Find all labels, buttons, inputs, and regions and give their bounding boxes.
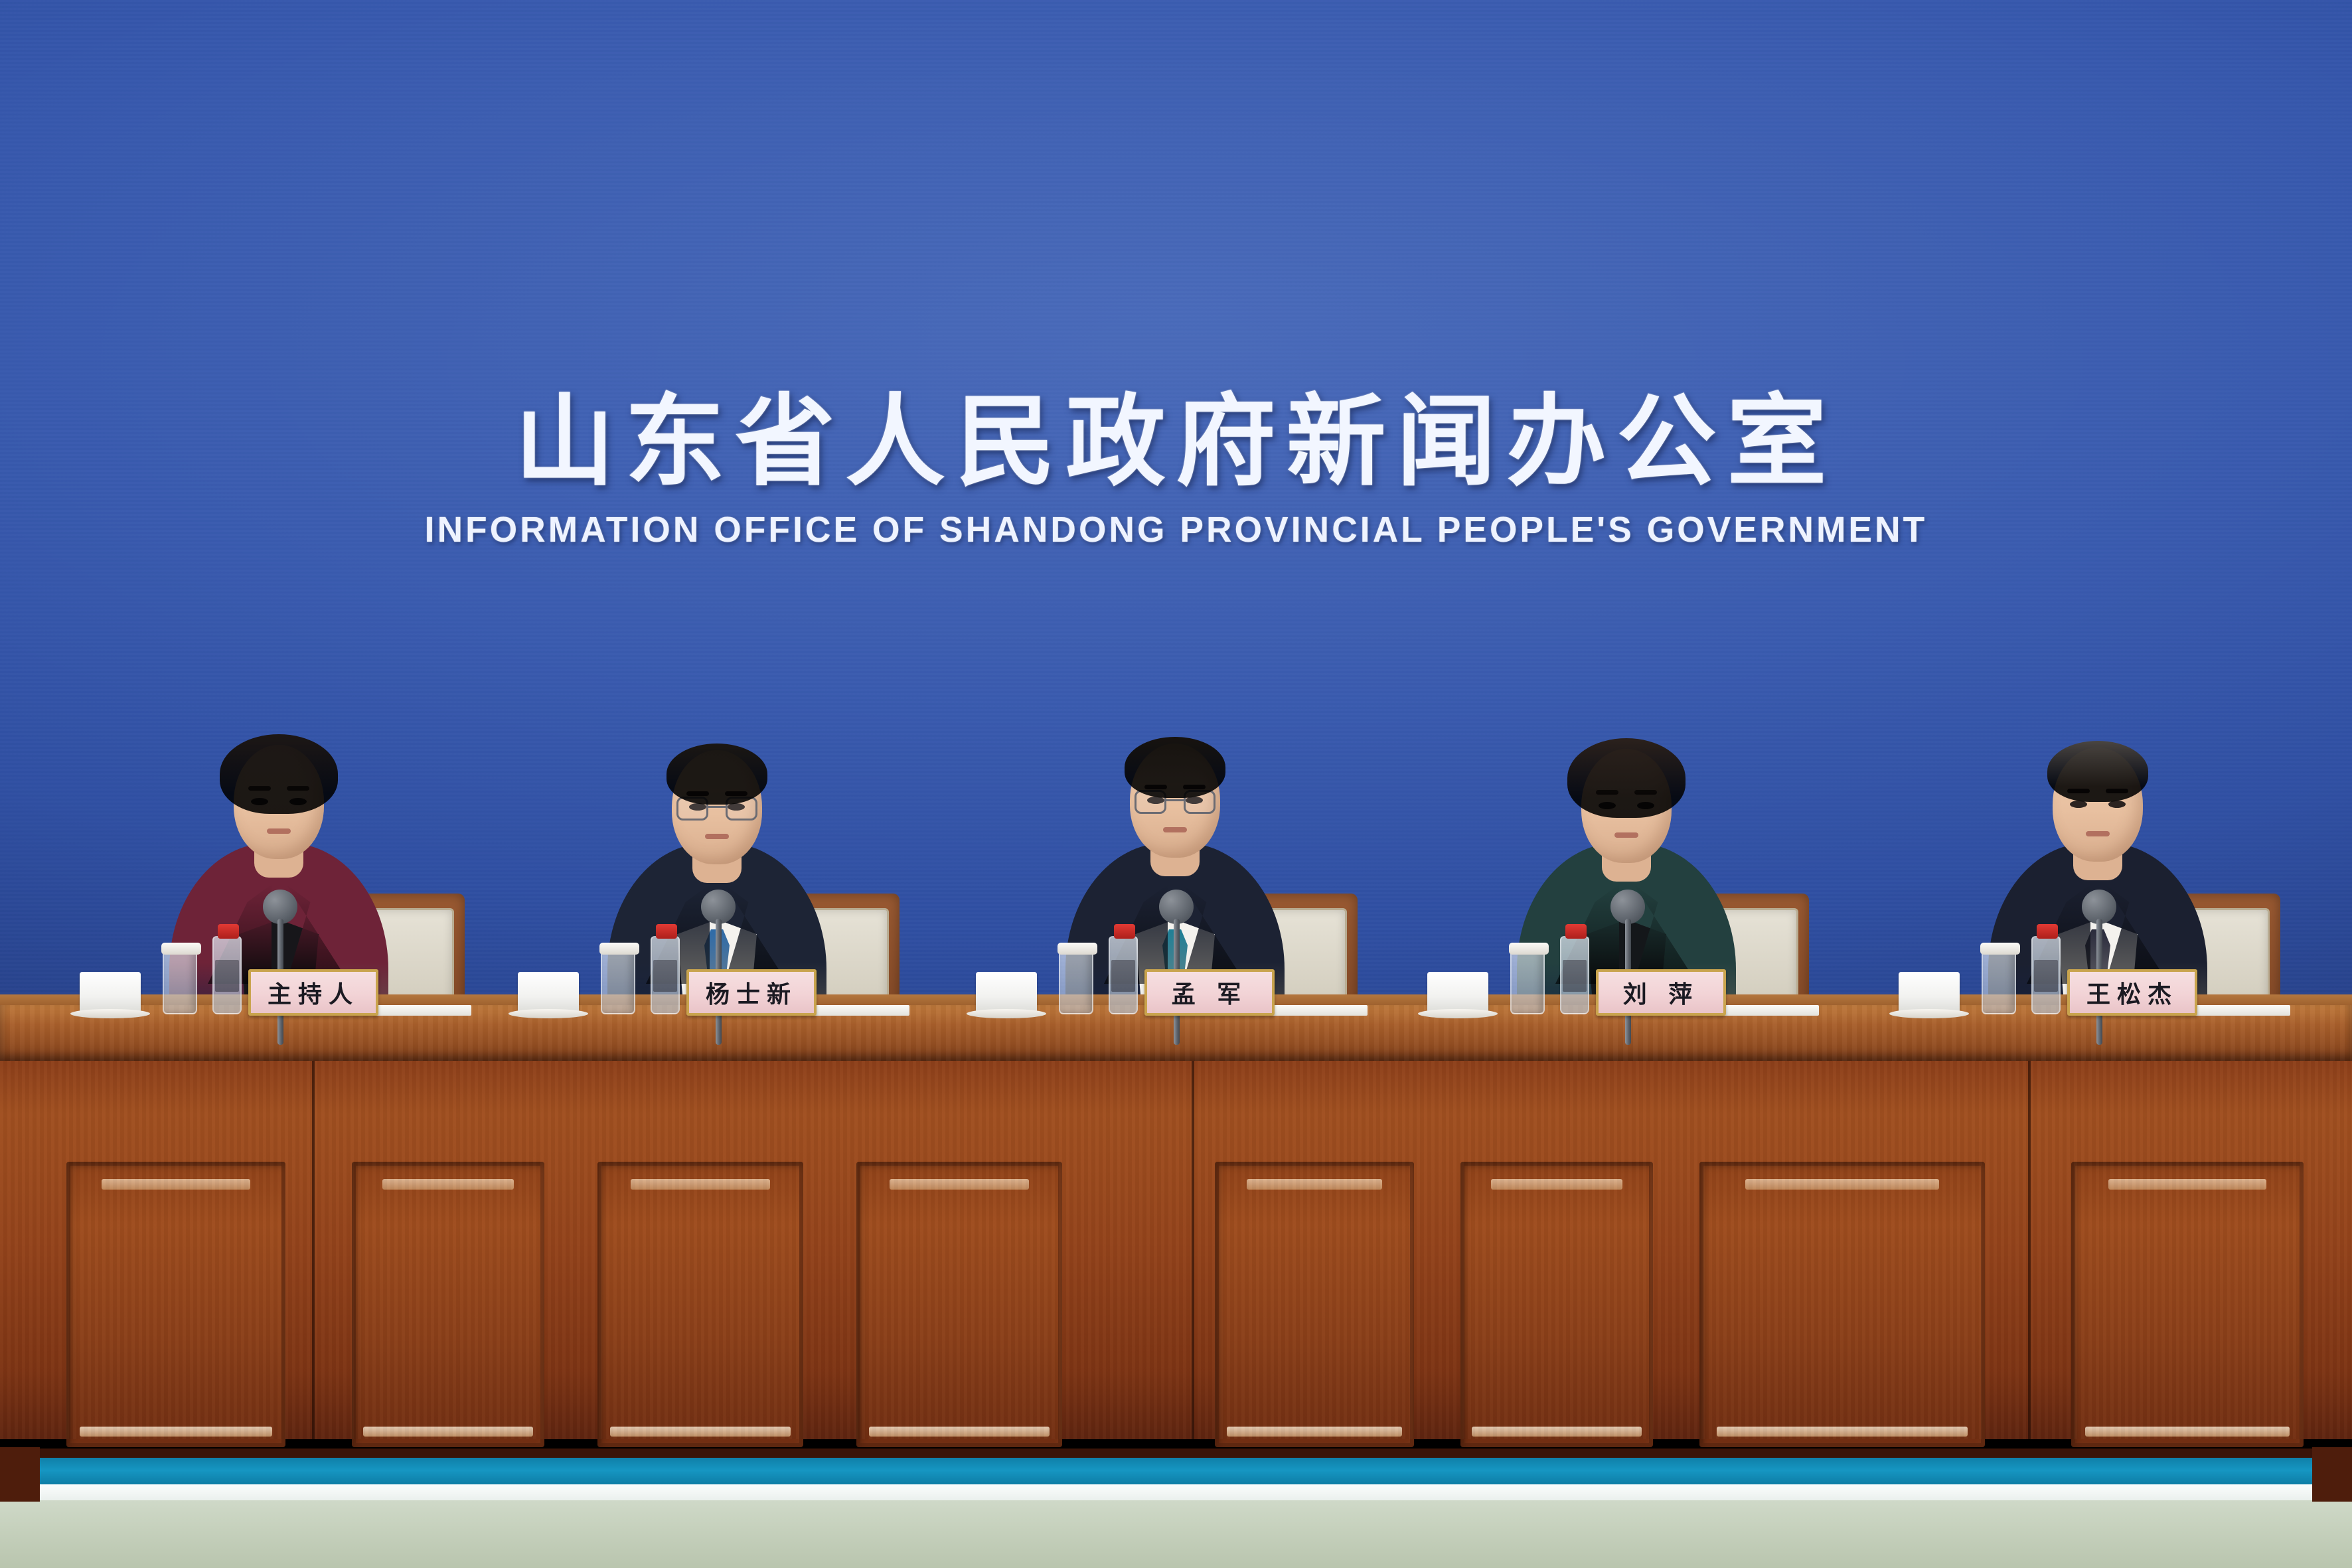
- folded-towel: [518, 972, 579, 1013]
- panel-bottom-highlight: [363, 1427, 532, 1437]
- panel-top-highlight: [2108, 1179, 2266, 1190]
- nameplate: 孟 军: [1144, 969, 1275, 1016]
- panel-bottom-highlight: [80, 1427, 272, 1437]
- table-seam: [1192, 1061, 1194, 1439]
- mouth: [2086, 831, 2110, 836]
- bottle-cap: [1114, 924, 1135, 939]
- water-bottle: [212, 936, 242, 1014]
- panel-bottom-highlight: [1472, 1427, 1641, 1437]
- bottle-label: [2034, 960, 2058, 992]
- folded-towel: [80, 972, 141, 1013]
- water-bottle: [1109, 936, 1138, 1014]
- panel-bottom-highlight: [1717, 1427, 1968, 1437]
- glass-lid: [599, 943, 639, 955]
- press-conference-photo: 山东省人民政府新闻办公室 INFORMATION OFFICE OF SHAND…: [0, 0, 2352, 1568]
- folded-towel: [1427, 972, 1488, 1013]
- mouth: [267, 828, 291, 834]
- table-panel: [2071, 1162, 2304, 1447]
- glass-lid: [161, 943, 201, 955]
- lidded-glass: [1059, 949, 1093, 1014]
- press-conference-table: [0, 994, 2352, 1452]
- bottle-cap: [1565, 924, 1587, 939]
- hair: [666, 744, 767, 805]
- nameplate-text: 主持人: [268, 975, 359, 1010]
- water-bottle: [651, 936, 680, 1014]
- folded-towel: [1899, 972, 1960, 1013]
- glass-lid: [1980, 943, 2020, 955]
- folded-towel: [976, 972, 1037, 1013]
- lidded-glass: [1510, 949, 1545, 1014]
- microphone: [260, 890, 300, 1042]
- nameplate-text: 孟 军: [1172, 975, 1248, 1010]
- table-panel: [856, 1162, 1062, 1447]
- bottle-label: [1563, 960, 1587, 992]
- mouth: [1614, 832, 1638, 838]
- bottle-label: [215, 960, 239, 992]
- water-bottle: [1560, 936, 1589, 1014]
- glasses-bridge: [1166, 799, 1184, 801]
- stage-floor: [0, 1449, 2352, 1568]
- glass-lid: [1509, 943, 1549, 955]
- microphone: [1156, 890, 1196, 1042]
- microphone: [2079, 890, 2119, 1042]
- panel-top-highlight: [382, 1179, 513, 1190]
- floor-surface: [0, 1500, 2352, 1568]
- nameplate: 主持人: [248, 969, 378, 1016]
- towel-saucer: [509, 1009, 588, 1018]
- lidded-glass: [1982, 949, 2016, 1014]
- banner-title-english: INFORMATION OFFICE OF SHANDONG PROVINCIA…: [18, 509, 2335, 550]
- nameplate-text: 刘 萍: [1623, 975, 1699, 1010]
- panel-top-highlight: [631, 1179, 771, 1190]
- nameplate: 王松杰: [2067, 969, 2197, 1016]
- towel-saucer: [967, 1009, 1046, 1018]
- floor-teal-stripe: [0, 1458, 2352, 1486]
- nameplate: 刘 萍: [1596, 969, 1726, 1016]
- stage-side-wood-left: [0, 1447, 40, 1502]
- mouth: [1163, 827, 1187, 832]
- nameplate: 杨士新: [686, 969, 817, 1016]
- glass-lid: [1058, 943, 1097, 955]
- microphone: [1608, 890, 1648, 1042]
- bottle-cap: [2037, 924, 2058, 939]
- desk-objects-layer: 主持人杨士新孟 军刘 萍王松杰: [0, 916, 2352, 1016]
- nameplate-text: 杨士新: [706, 975, 797, 1010]
- panel-bottom-highlight: [2085, 1427, 2290, 1437]
- table-seam: [2028, 1061, 2031, 1439]
- panel-bottom-highlight: [1227, 1427, 1402, 1437]
- microphone: [698, 890, 738, 1042]
- hair: [2047, 741, 2148, 802]
- banner-title-chinese: 山东省人民政府新闻办公室: [0, 388, 2352, 496]
- mouth: [705, 834, 729, 839]
- water-bottle: [2031, 936, 2061, 1014]
- panel-top-highlight: [1745, 1179, 1939, 1190]
- hair: [220, 734, 338, 814]
- table-panel: [1215, 1162, 1414, 1447]
- panel-top-highlight: [102, 1179, 250, 1190]
- panel-bottom-highlight: [610, 1427, 791, 1437]
- lidded-glass: [163, 949, 197, 1014]
- nameplate-text: 王松杰: [2086, 975, 2178, 1010]
- lidded-glass: [601, 949, 635, 1014]
- table-seam: [312, 1061, 315, 1439]
- table-front-face: [0, 1061, 2352, 1439]
- panel-top-highlight: [890, 1179, 1030, 1190]
- panel-top-highlight: [1491, 1179, 1622, 1190]
- bottle-cap: [218, 924, 239, 939]
- table-panel: [66, 1162, 285, 1447]
- panel-top-highlight: [1247, 1179, 1382, 1190]
- table-panel: [597, 1162, 803, 1447]
- towel-saucer: [1889, 1009, 1969, 1018]
- table-panel: [352, 1162, 544, 1447]
- towel-saucer: [70, 1009, 150, 1018]
- hair: [1567, 738, 1686, 818]
- towel-saucer: [1418, 1009, 1498, 1018]
- glasses-bridge: [708, 806, 726, 808]
- bottle-label: [653, 960, 677, 992]
- table-panel: [1460, 1162, 1653, 1447]
- table-panel: [1699, 1162, 1985, 1447]
- hair: [1125, 737, 1225, 798]
- bottle-label: [1111, 960, 1135, 992]
- banner: 山东省人民政府新闻办公室 INFORMATION OFFICE OF SHAND…: [0, 388, 2352, 550]
- panel-bottom-highlight: [869, 1427, 1050, 1437]
- floor-white-stripe: [0, 1484, 2352, 1502]
- stage-side-wood-right: [2312, 1447, 2352, 1502]
- bottle-cap: [656, 924, 677, 939]
